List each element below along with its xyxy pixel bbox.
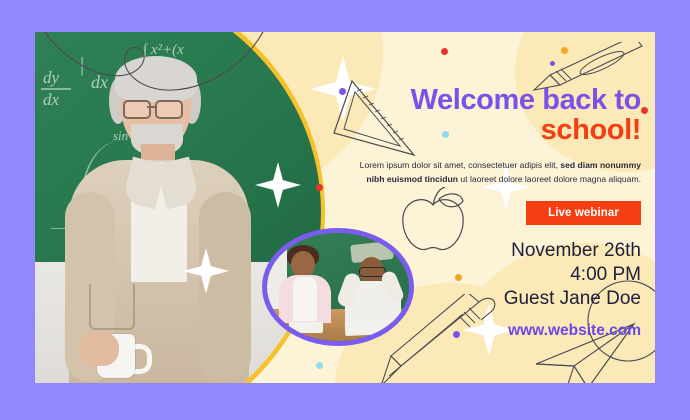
live-webinar-button[interactable]: Live webinar <box>526 201 641 225</box>
banner-root: dy dx | dx ∫ x²+(x q-1 y=3 x² sin <box>0 0 690 420</box>
event-guest: Guest Jane Doe <box>341 287 641 311</box>
sparkle-icon <box>255 162 301 208</box>
body-copy-part1: Lorem ipsum dolor sit amet, consectetuer… <box>360 160 561 170</box>
body-copy: Lorem ipsum dolor sit amet, consectetuer… <box>341 159 641 187</box>
title-line-1: Welcome back to <box>411 84 641 116</box>
sparkle-icon <box>183 248 229 294</box>
decorative-dot <box>641 107 648 114</box>
banner-canvas: dy dx | dx ∫ x²+(x q-1 y=3 x² sin <box>35 32 655 383</box>
decorative-dot <box>316 362 323 369</box>
event-date: November 26th <box>341 239 641 263</box>
website-link[interactable]: www.website.com <box>341 322 641 340</box>
body-copy-part2: ut laoreet dolore laoreet dolore magna a… <box>458 174 641 184</box>
squiggle-icon <box>43 32 293 96</box>
event-time: 4:00 PM <box>341 263 641 287</box>
title-line-2: school! <box>541 114 641 146</box>
decorative-dot <box>316 184 323 191</box>
page-title: Welcome back to school! <box>341 32 641 146</box>
event-details: November 26th 4:00 PM Guest Jane Doe <box>341 239 641 312</box>
content-column: Welcome back to school! Lorem ipsum dolo… <box>341 32 641 383</box>
